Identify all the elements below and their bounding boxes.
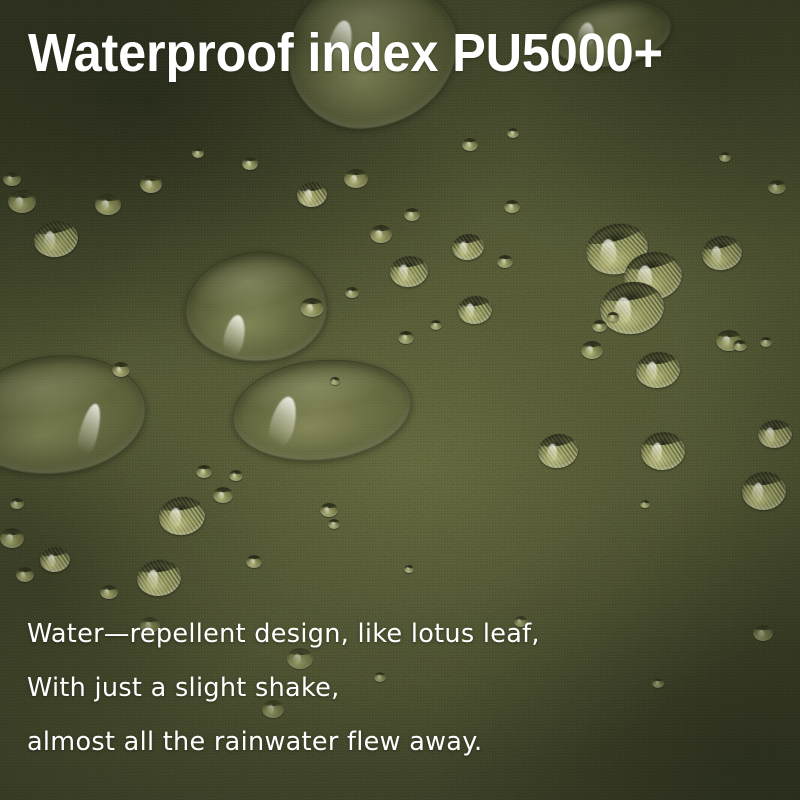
water-droplet — [8, 190, 36, 213]
water-droplet — [31, 217, 81, 260]
water-droplet — [639, 430, 686, 472]
water-droplet — [345, 287, 359, 298]
caption-line-1: Water—repellent design, like lotus leaf, — [27, 607, 767, 661]
water-droplet — [404, 565, 414, 573]
water-droplet — [404, 208, 420, 221]
caption-line-2: With just a slight shake, — [27, 661, 767, 715]
water-droplet — [39, 546, 71, 574]
water-droplet — [581, 341, 603, 359]
water-droplet — [370, 225, 392, 243]
water-droplet — [398, 331, 414, 344]
water-droplet — [462, 138, 478, 151]
water-droplet — [388, 254, 429, 289]
water-droplet — [597, 278, 668, 338]
water-droplet — [100, 585, 118, 599]
water-droplet — [507, 128, 519, 138]
water-droplet — [213, 487, 233, 503]
water-droplet — [768, 180, 786, 194]
water-droplet — [634, 350, 682, 390]
water-droplet — [229, 470, 243, 481]
water-droplet — [719, 152, 731, 162]
water-droplet — [497, 255, 513, 268]
water-droplet — [242, 157, 258, 170]
water-droplet — [757, 418, 794, 449]
water-droplet — [10, 498, 24, 509]
water-puddle — [227, 351, 416, 469]
water-droplet — [504, 200, 520, 213]
water-droplet — [157, 494, 207, 537]
water-droplet — [320, 503, 338, 517]
water-droplet — [344, 169, 368, 188]
page-title: Waterproof index PU5000+ — [28, 25, 663, 82]
water-droplet — [196, 465, 212, 478]
water-puddle — [0, 344, 153, 487]
water-droplet — [760, 337, 772, 347]
water-droplet — [430, 320, 442, 330]
water-droplet — [699, 232, 745, 274]
water-droplet — [328, 519, 340, 529]
water-droplet — [330, 377, 340, 385]
caption-line-3: almost all the rainwater flew away. — [27, 715, 767, 769]
water-droplet — [457, 294, 494, 325]
water-droplet — [536, 431, 580, 470]
water-droplet — [95, 194, 121, 215]
water-droplet — [3, 172, 21, 186]
water-droplet — [296, 181, 328, 209]
water-droplet — [450, 232, 485, 262]
water-droplet — [300, 298, 324, 317]
waterproof-promo-banner: Waterproof index PU5000+ Water—repellent… — [0, 0, 800, 800]
water-droplet — [592, 320, 607, 332]
water-droplet — [733, 340, 747, 351]
water-droplet — [135, 558, 183, 598]
water-droplet — [640, 500, 650, 508]
water-droplet — [112, 362, 130, 377]
water-droplet — [192, 148, 204, 158]
water-droplet — [740, 470, 788, 512]
water-droplet — [16, 567, 34, 582]
water-droplet — [140, 175, 162, 193]
water-droplet — [0, 528, 24, 548]
caption-block: Water—repellent design, like lotus leaf,… — [27, 607, 767, 769]
water-droplet — [246, 555, 262, 568]
water-droplet — [607, 312, 619, 322]
